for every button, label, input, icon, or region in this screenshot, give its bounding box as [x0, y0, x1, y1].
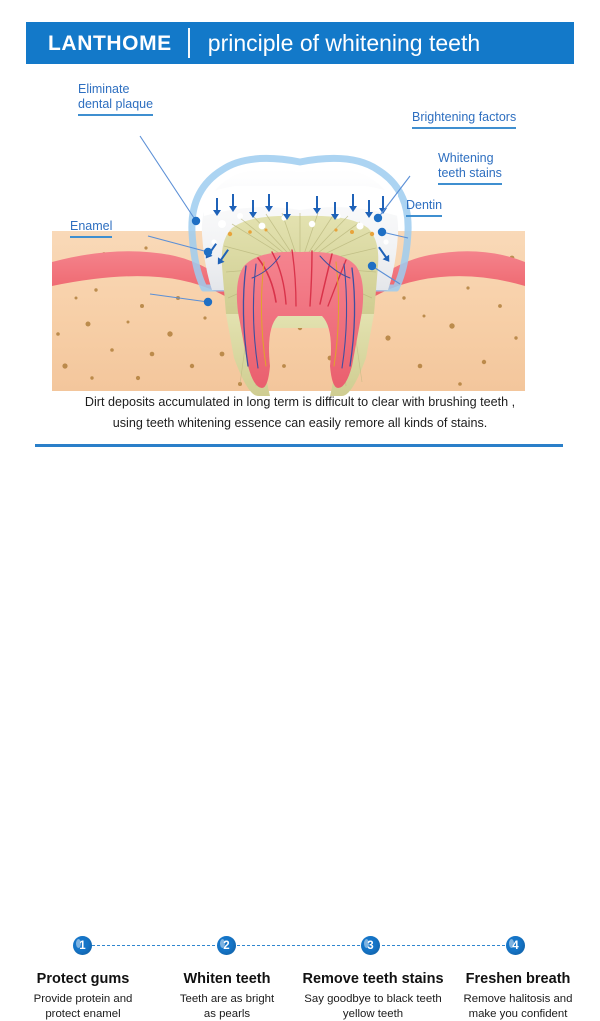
label-brightening-factors: Brightening factors [412, 110, 516, 129]
benefits-steps: 1 2 3 4 Protect gums Provide protein and… [0, 462, 600, 592]
step-item-4: Freshen breath Remove halitosis and make… [447, 970, 589, 1021]
step-title-4: Freshen breath [447, 970, 589, 988]
page-title: principle of whitening teeth [190, 32, 480, 55]
step-title-2: Whiten teeth [156, 970, 298, 988]
brand-logo-text: LANTHOME [26, 33, 188, 54]
label-brightening-factors-text: Brightening factors [412, 110, 516, 124]
step-item-1: Protect gums Provide protein and protect… [12, 970, 154, 1021]
label-enamel-text: Enamel [70, 219, 112, 233]
step-desc-4-line2: make you confident [447, 1007, 589, 1021]
label-eliminate-plaque-line2: dental plaque [78, 97, 153, 111]
label-whitening-teeth-stains: Whitening teeth stains [438, 151, 502, 185]
label-enamel: Enamel [70, 219, 112, 238]
step-desc-1-line2: protect enamel [12, 1007, 154, 1021]
tooth-illustration: Eliminate dental plaque Enamel Brighteni… [0, 66, 600, 396]
infographic-page: LANTHOME principle of whitening teeth [0, 0, 600, 600]
step-desc-2-line1: Teeth are as bright [156, 992, 298, 1007]
caption-line-1: Dirt deposits accumulated in long term i… [60, 392, 540, 413]
step-desc-4-line1: Remove halitosis and [447, 992, 589, 1007]
label-dentin-text: Dentin [406, 198, 442, 212]
step-desc-1-line1: Provide protein and [12, 992, 154, 1007]
caption-line-2: using teeth whitening essence can easily… [60, 413, 540, 434]
step-marker-3[interactable]: 3 [361, 936, 380, 955]
step-title-1: Protect gums [12, 970, 154, 988]
step-desc-3-line1: Say goodbye to black teeth [295, 992, 451, 1007]
section-divider [35, 444, 563, 447]
label-underline [406, 215, 442, 217]
caption-text: Dirt deposits accumulated in long term i… [60, 392, 540, 434]
label-whitening-stains-line1: Whitening [438, 151, 494, 165]
label-underline [70, 236, 112, 238]
step-item-2: Whiten teeth Teeth are as bright as pear… [156, 970, 298, 1021]
label-underline [438, 183, 502, 185]
label-whitening-stains-line2: teeth stains [438, 166, 502, 180]
step-item-3: Remove teeth stains Say goodbye to black… [295, 970, 451, 1021]
header-divider [188, 28, 190, 58]
step-connector-line [82, 945, 515, 946]
step-desc-3-line2: yellow teeth [295, 1007, 451, 1021]
header-bar: LANTHOME principle of whitening teeth [26, 22, 574, 64]
label-dentin: Dentin [406, 198, 442, 217]
step-title-3: Remove teeth stains [295, 970, 451, 988]
step-marker-4[interactable]: 4 [506, 936, 525, 955]
label-underline [78, 114, 153, 116]
label-eliminate-plaque: Eliminate dental plaque [78, 82, 153, 116]
step-desc-2-line2: as pearls [156, 1007, 298, 1021]
label-underline [412, 127, 516, 129]
label-eliminate-plaque-line1: Eliminate [78, 82, 129, 96]
step-marker-1[interactable]: 1 [73, 936, 92, 955]
step-marker-2[interactable]: 2 [217, 936, 236, 955]
